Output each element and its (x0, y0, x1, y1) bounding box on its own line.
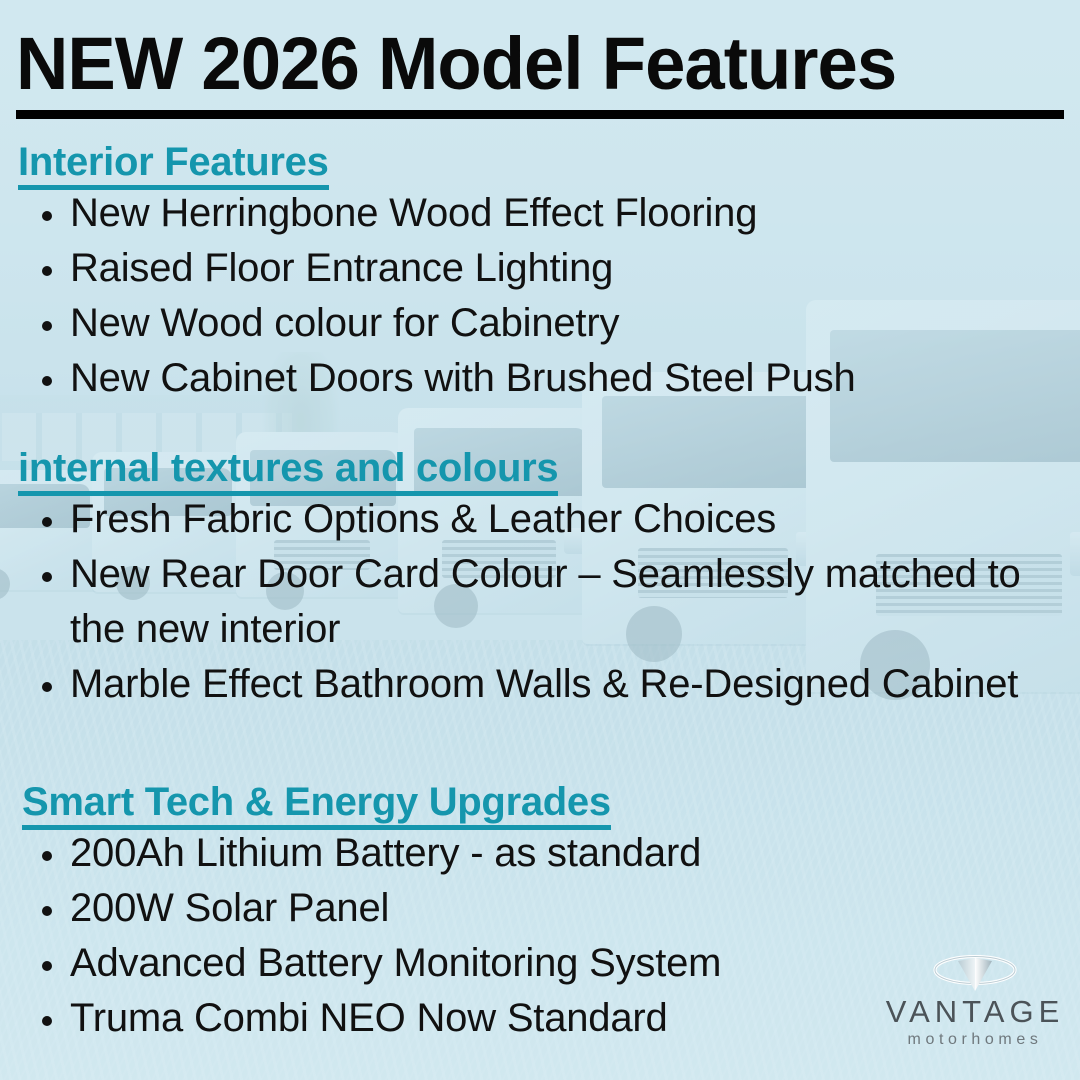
list-item: Advanced Battery Monitoring System (18, 936, 1018, 991)
ellipse-fan-icon (932, 955, 1018, 993)
list-item: New Rear Door Card Colour – Seamlessly m… (18, 547, 1028, 657)
logo-tagline: motorhomes (880, 1031, 1070, 1049)
vantage-logo: VANTAGE motorhomes (880, 955, 1070, 1070)
poster: NEW 2026 Model Features Interior Feature… (0, 0, 1080, 1080)
section-heading-label: Interior Features (18, 140, 329, 184)
section-heading-smart-tech-and-energy-upgrades: Smart Tech & Energy Upgrades (22, 780, 611, 830)
feature-list-interior-features: New Herringbone Wood Effect Flooring Rai… (18, 186, 1018, 406)
feature-list-internal-textures-and-colours: Fresh Fabric Options & Leather Choices N… (18, 492, 1028, 712)
list-item: New Cabinet Doors with Brushed Steel Pus… (18, 351, 1018, 406)
poster-content: NEW 2026 Model Features Interior Feature… (0, 0, 1080, 1080)
list-item: Truma Combi NEO Now Standard (18, 991, 1018, 1046)
list-item: Marble Effect Bathroom Walls & Re-Design… (18, 657, 1028, 712)
list-item: New Wood colour for Cabinetry (18, 296, 1018, 351)
list-item: 200Ah Lithium Battery - as standard (18, 826, 1018, 881)
title-underline (16, 110, 1064, 119)
list-item: Fresh Fabric Options & Leather Choices (18, 492, 1028, 547)
list-item: Raised Floor Entrance Lighting (18, 241, 1018, 296)
section-heading-interior-features: Interior Features (18, 140, 329, 190)
list-item: 200W Solar Panel (18, 881, 1018, 936)
page-title: NEW 2026 Model Features (16, 24, 1045, 104)
section-heading-label: Smart Tech & Energy Upgrades (22, 780, 611, 824)
list-item: New Herringbone Wood Effect Flooring (18, 186, 1018, 241)
section-heading-internal-textures-and-colours: internal textures and colours (18, 446, 558, 496)
section-heading-label: internal textures and colours (18, 446, 558, 490)
logo-brand: VANTAGE (880, 995, 1070, 1029)
feature-list-smart-tech-and-energy-upgrades: 200Ah Lithium Battery - as standard 200W… (18, 826, 1018, 1046)
